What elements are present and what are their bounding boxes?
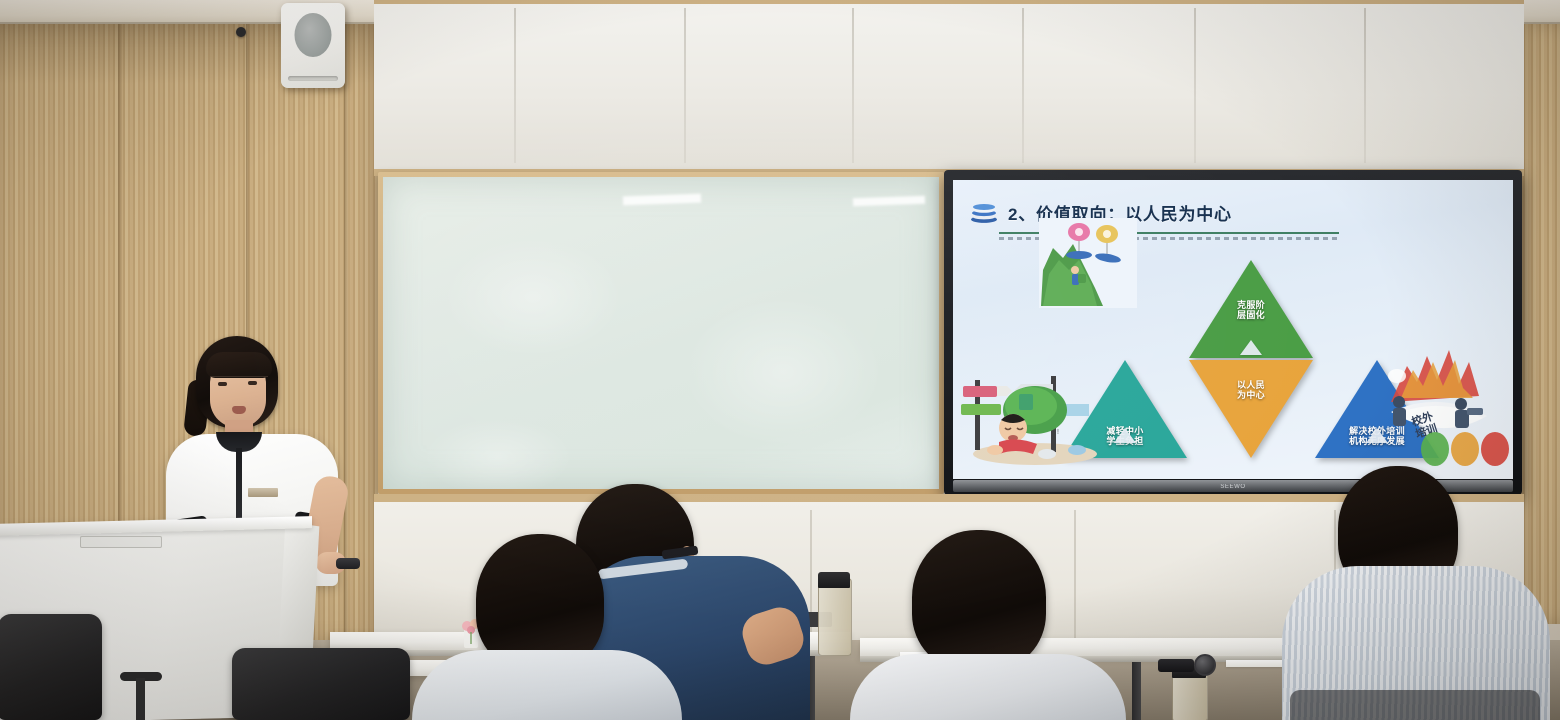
lectern-side xyxy=(279,522,320,655)
smart-board-brand: SEEWO xyxy=(1220,484,1245,490)
arrow-up-center xyxy=(1240,340,1262,355)
presenter-bangs xyxy=(206,352,272,378)
thermos-cap[interactable] xyxy=(818,572,850,588)
tea-jar[interactable] xyxy=(1172,672,1208,720)
interactive-smart-board[interactable]: 2、价值取向：以人民为中心 xyxy=(944,170,1522,495)
upper-wall-panels xyxy=(374,0,1524,176)
mobile-phone[interactable] xyxy=(1158,659,1194,672)
whiteboard-surface[interactable] xyxy=(383,177,939,489)
attendee-shirt xyxy=(850,654,1126,720)
wrist-watch[interactable] xyxy=(1194,654,1216,676)
whiteboard[interactable] xyxy=(378,172,944,494)
presenter-name-badge xyxy=(248,488,278,497)
chair-post xyxy=(136,678,145,720)
presentation-slide[interactable]: 2、价值取向：以人民为中心 xyxy=(953,180,1513,479)
presentation-clicker[interactable] xyxy=(336,558,360,569)
off-campus-training-illustration: 校外 培训 xyxy=(1383,340,1511,466)
speaker-cone xyxy=(295,13,332,57)
attendee-head xyxy=(912,530,1046,670)
presenter-mouth xyxy=(232,406,246,414)
lectern-plate xyxy=(80,536,162,548)
attendee-chair-back xyxy=(1290,690,1540,720)
chair[interactable] xyxy=(0,614,102,720)
wall-speaker-icon xyxy=(281,3,345,88)
speaker-vent xyxy=(288,76,338,81)
wall-sensor-icon xyxy=(236,27,246,37)
presenter-glasses xyxy=(210,376,268,392)
tea-thermos[interactable] xyxy=(818,578,852,656)
student-heavy-backpack-illustration: ! xyxy=(961,358,1101,466)
triangle-center xyxy=(1189,360,1313,458)
chair[interactable] xyxy=(232,648,410,720)
triangle-top-label: 克服阶层固化 xyxy=(1215,300,1287,320)
mountain-climbers-illustration xyxy=(1039,218,1137,308)
svg-text:!: ! xyxy=(1057,429,1059,436)
attendee-shirt xyxy=(412,650,682,720)
desk-leg xyxy=(1132,662,1141,720)
arrow-up-left xyxy=(1114,428,1136,443)
classroom-scene: 2、价值取向：以人民为中心 xyxy=(0,0,1560,720)
stacked-books-icon xyxy=(969,202,999,224)
triangle-center-label: 以人民为中心 xyxy=(1215,380,1287,400)
color-dots-decoration xyxy=(1421,432,1509,466)
wood-slat-wall-right xyxy=(1520,24,1560,624)
